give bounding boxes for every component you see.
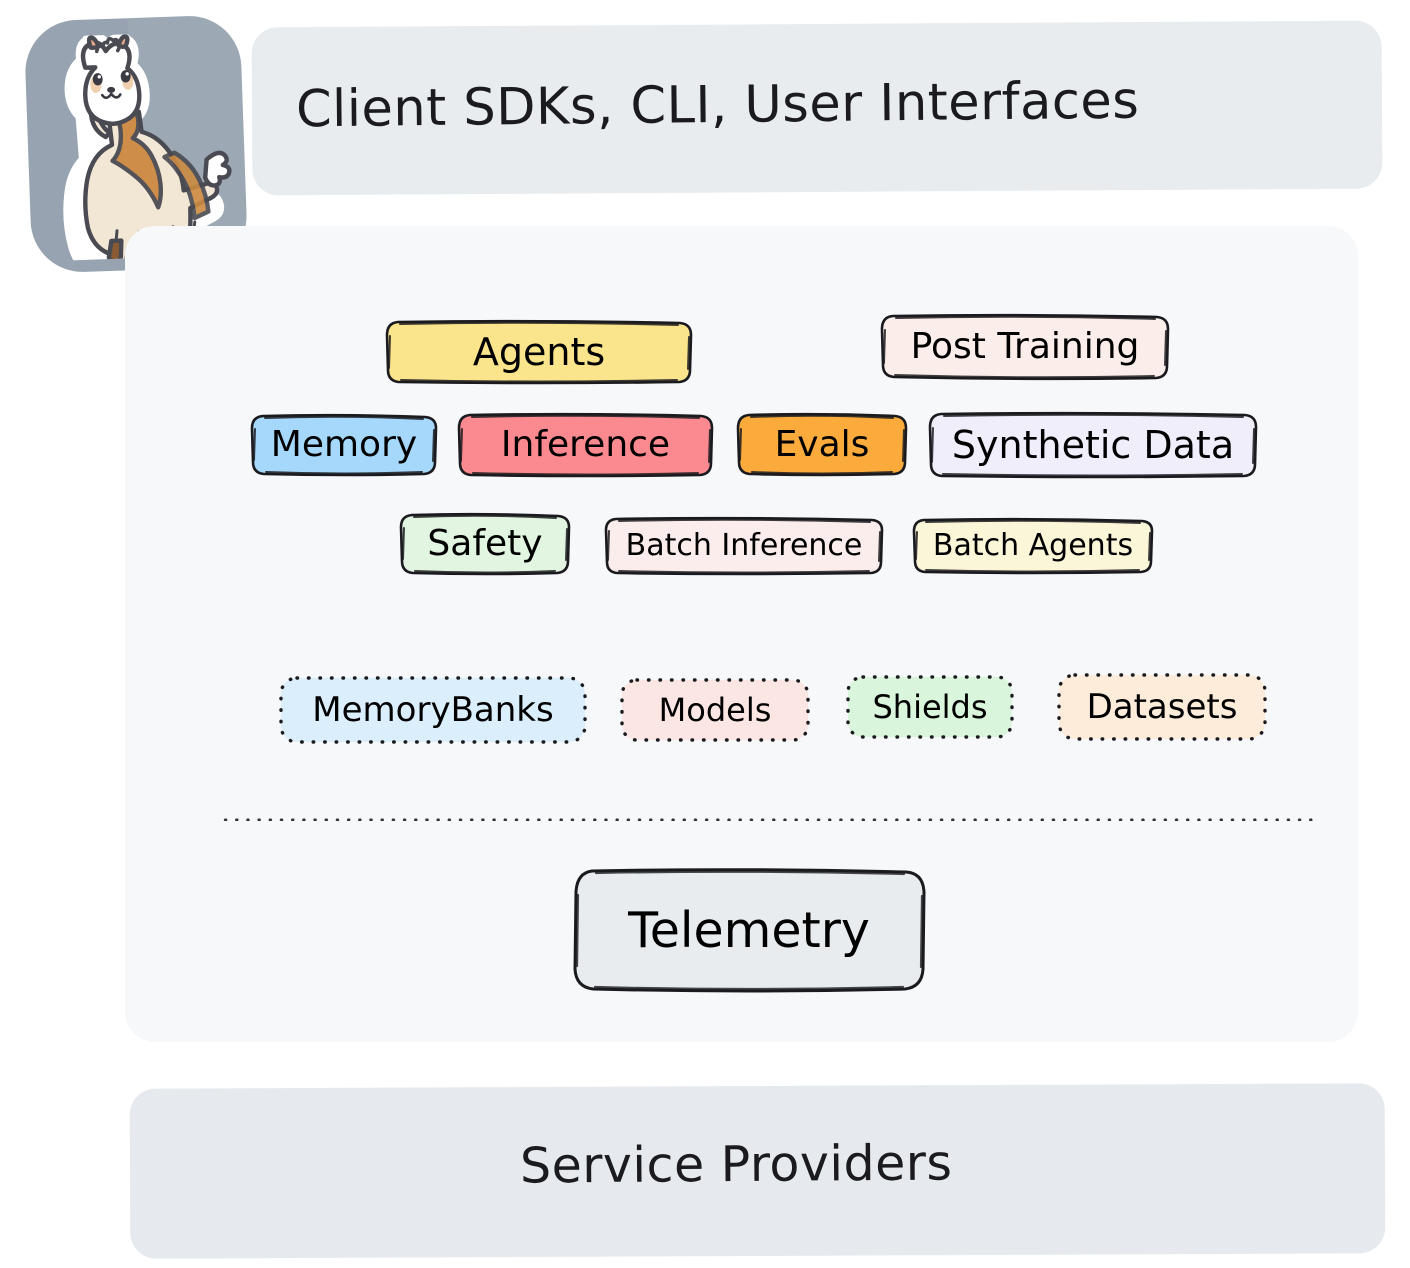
api-box-memory[interactable]: Memory	[250, 414, 438, 476]
api-box-label: Batch Agents	[933, 531, 1133, 561]
api-box-safety[interactable]: Safety	[399, 513, 571, 575]
api-box-label: Evals	[775, 427, 870, 463]
api-box-label: Safety	[427, 526, 542, 562]
telemetry-box[interactable]: Telemetry	[566, 868, 932, 993]
api-box-inference[interactable]: Inference	[457, 413, 714, 477]
api-box-post-training[interactable]: Post Training	[880, 313, 1170, 381]
resource-box-label: Shields	[872, 691, 987, 723]
resource-box-label: MemoryBanks	[312, 693, 553, 727]
diagram-canvas: Client SDKs, CLI, User Interfaces	[0, 0, 1410, 1268]
client-layer-label: Client SDKs, CLI, User Interfaces	[296, 72, 1140, 140]
resource-box-label: Models	[659, 694, 772, 726]
telemetry-label: Telemetry	[628, 906, 870, 955]
section-divider	[220, 815, 1316, 821]
api-box-agents[interactable]: Agents	[385, 320, 693, 384]
resource-box-models[interactable]: Models	[619, 677, 811, 743]
api-box-synthetic-data[interactable]: Synthetic Data	[928, 412, 1258, 478]
api-box-batch-inference[interactable]: Batch Inference	[604, 517, 884, 575]
resource-box-memorybanks[interactable]: MemoryBanks	[278, 675, 588, 745]
api-box-evals[interactable]: Evals	[736, 413, 908, 476]
api-box-batch-agents[interactable]: Batch Agents	[912, 518, 1154, 574]
resource-box-shields[interactable]: Shields	[845, 674, 1015, 740]
resource-box-datasets[interactable]: Datasets	[1056, 672, 1268, 742]
api-box-label: Synthetic Data	[952, 426, 1234, 464]
service-providers-label: Service Providers	[520, 1134, 953, 1194]
api-box-label: Memory	[271, 427, 417, 463]
resource-box-label: Datasets	[1087, 690, 1238, 724]
api-box-label: Post Training	[911, 329, 1140, 365]
api-box-label: Inference	[501, 427, 670, 463]
api-box-label: Agents	[473, 333, 605, 371]
api-box-label: Batch Inference	[626, 531, 863, 561]
